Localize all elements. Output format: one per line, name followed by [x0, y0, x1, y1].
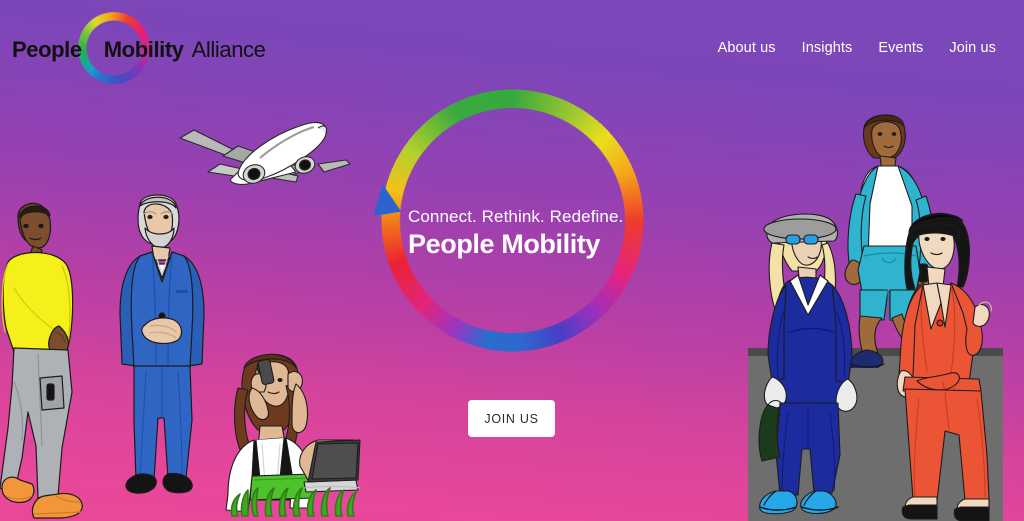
logo-word-people: People: [12, 37, 82, 62]
woman-coral-suit-illustration: [893, 205, 1008, 521]
hero-tagline: Connect. Rethink. Redefine.: [408, 206, 638, 227]
site-logo[interactable]: PeopleMobilityAlliance: [12, 22, 265, 78]
main-navigation: About us Insights Events Join us: [718, 40, 996, 56]
airplane-illustration: [168, 112, 353, 197]
hero-ring-graphic: Connect. Rethink. Redefine. People Mobil…: [380, 88, 645, 353]
nav-item-join-us[interactable]: Join us: [949, 40, 996, 56]
older-man-blue-suit-illustration: [112, 190, 212, 500]
blonde-woman-navy-jumpsuit-illustration: [758, 205, 868, 520]
logo-word-mobility: Mobility: [104, 37, 184, 62]
woman-laptop-on-grass-illustration: [208, 348, 363, 521]
nav-item-events[interactable]: Events: [878, 40, 923, 56]
young-man-yellow-hoodie-illustration: [0, 196, 105, 521]
hero-headline: People Mobility: [408, 228, 638, 262]
join-us-button[interactable]: JOIN US: [468, 400, 555, 437]
logo-word-alliance: Alliance: [192, 37, 266, 62]
site-header: PeopleMobilityAlliance About us Insights…: [0, 0, 1024, 100]
hero-copy: Connect. Rethink. Redefine. People Mobil…: [408, 206, 638, 262]
hero-page: PeopleMobilityAlliance About us Insights…: [0, 0, 1024, 521]
nav-item-insights[interactable]: Insights: [802, 40, 853, 56]
nav-item-about-us[interactable]: About us: [718, 40, 776, 56]
arrowhead-icon: [369, 182, 401, 216]
logo-text: PeopleMobilityAlliance: [12, 37, 265, 63]
